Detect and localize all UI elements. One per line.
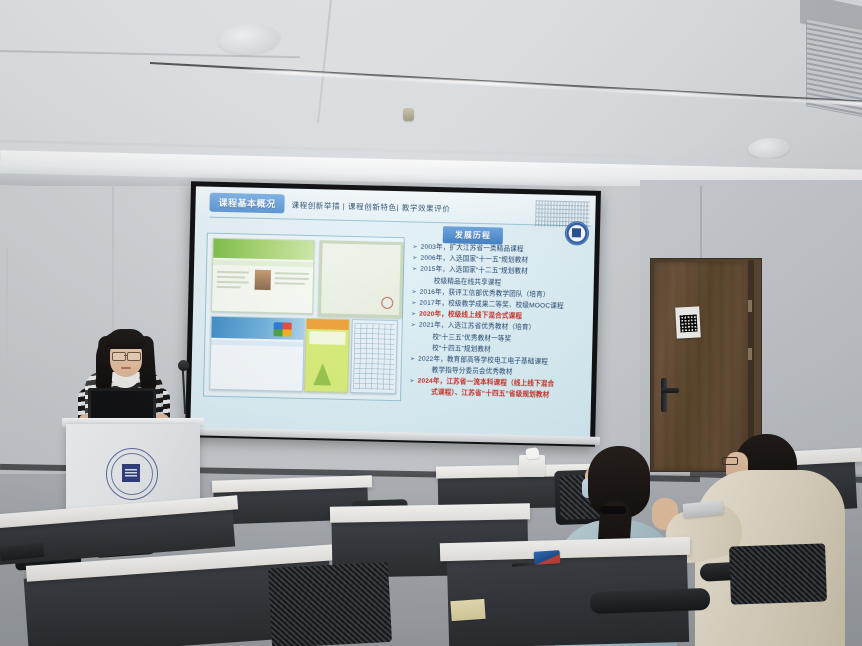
slide-bullet-item: ➢2024年，江苏省一流本科课程（线上线下混合 — [409, 378, 581, 390]
university-emblem-icon — [565, 221, 590, 246]
bullet-text: 2016年，获评工信部优秀教学团队（培育） — [420, 288, 550, 299]
bullet-text: 式课程）、江苏省“十四五”省级规划教材 — [431, 389, 549, 400]
sprinkler-icon — [403, 108, 414, 121]
paper-pad[interactable] — [450, 599, 485, 621]
bullet-arrow-icon: ➢ — [411, 311, 416, 319]
chair-mesh-back[interactable] — [729, 543, 827, 604]
bullet-arrow-icon: ➢ — [412, 266, 417, 274]
podium-seal-wave-mark — [125, 469, 137, 477]
slide-image-panel — [203, 233, 405, 402]
bullet-text: 2015年，入选国家“十二五”规划教材 — [420, 266, 528, 277]
slide-bullet-item: 教学指导分委员会优秀教材 — [410, 366, 582, 378]
bullet-arrow-icon: ➢ — [409, 378, 414, 386]
slide-badge: 发展历程 — [443, 226, 503, 244]
glasses-lens-right-icon — [127, 352, 141, 361]
door-handle-plate[interactable] — [661, 378, 667, 412]
bullet-text: 2021年，入选江苏省优秀教材（培育） — [419, 322, 536, 333]
door-wood-grain — [654, 262, 751, 470]
thumbnail-data-table — [350, 319, 398, 394]
slide-bullet-item: ➢2006年，入选国家“十一五”规划教材 — [412, 255, 584, 267]
classroom-photo: 课程基本概况 课程创新举措 | 课程创新特色| 教学效果评价 发展历程 — [0, 0, 862, 646]
slide-bullet-item: 校级精品在线共享课程 — [412, 277, 584, 289]
thumb-text-line — [217, 271, 249, 274]
slide-bullet-item: 式课程）、江苏省“十四五”省级规划教材 — [409, 389, 581, 401]
presenter-mouth — [121, 367, 131, 369]
glasses-lens-left-icon — [112, 352, 126, 361]
tissue-sheet — [525, 447, 539, 460]
door-lever-handle[interactable] — [661, 388, 679, 393]
slide-bullet-item: ➢2016年，获评工信部优秀教学团队（培育） — [411, 288, 583, 300]
thumb-text-line — [275, 277, 309, 280]
bullet-text: 2020年，校级线上线下混合式课程 — [419, 311, 522, 321]
thumbnail-award-certificate — [318, 240, 404, 318]
bullet-text: 教学指导分委员会优秀教材 — [432, 367, 513, 377]
thumb-portrait — [255, 270, 271, 290]
presenter-hair-top — [106, 329, 146, 349]
book-title-block — [309, 331, 345, 345]
bullet-text: 校级精品在线共享课程 — [434, 278, 502, 288]
qr-code-icon — [679, 315, 697, 333]
door-hinge-bottom — [748, 348, 752, 360]
thumb-text-line — [217, 286, 241, 289]
slide-bullet-item: ➢2020年，校级线上线下混合式课程 — [411, 311, 583, 323]
bullet-text: 校“十四五”规划教材 — [432, 345, 491, 354]
hair-tie-icon — [600, 506, 626, 514]
table-grid — [353, 323, 395, 390]
bullet-arrow-icon: ➢ — [411, 299, 416, 307]
book-leaf-graphic — [313, 363, 332, 385]
qr-caption — [677, 308, 697, 311]
smartphone[interactable] — [534, 550, 561, 565]
thumb-text-line — [275, 272, 309, 275]
thumb-text-line — [217, 276, 245, 279]
slide-bullet-item: ➢2021年，入选江苏省优秀教材（培育） — [411, 322, 583, 334]
windows-logo-icon — [273, 322, 291, 336]
certificate-seal-icon — [381, 297, 393, 309]
thumb-text-line — [217, 281, 249, 284]
bullet-arrow-icon: ➢ — [410, 355, 415, 363]
bullet-arrow-icon: ➢ — [411, 288, 416, 296]
door-hinge-top — [748, 300, 752, 312]
projection-screen: 课程基本概况 课程创新举措 | 课程创新特色| 教学效果评价 发展历程 — [185, 181, 601, 447]
thumbnail-green-course-website — [211, 238, 315, 314]
bullet-text: 2003年，扩大江苏省一类精品课程 — [421, 244, 524, 254]
bullet-arrow-icon: ➢ — [412, 255, 417, 263]
bullet-text: 2024年，江苏省一流本科课程（线上线下混合 — [418, 378, 555, 389]
emblem-core — [572, 228, 581, 237]
thumb-text-line — [275, 282, 305, 285]
slide-bullet-item: ➢2022年，教育部高等学校电工电子基础课程 — [410, 355, 582, 367]
thumb-navbar-blue — [211, 340, 303, 347]
thumbnail-blue-course-platform — [209, 316, 305, 392]
thumb-banner — [213, 239, 313, 260]
chair-mesh-back[interactable] — [268, 562, 392, 646]
bullet-text: 2017年，校级教学成果二等奖、校级MOOC课程 — [419, 300, 563, 311]
wall-seam-2 — [6, 248, 8, 428]
bullet-arrow-icon: ➢ — [411, 322, 416, 330]
thumbnail-textbook-cover — [304, 318, 350, 393]
bullet-arrow-icon: ➢ — [412, 243, 417, 251]
slide-bullet-item: ➢2015年，入选国家“十二五”规划教材 — [412, 266, 584, 278]
bullet-text: 2006年，入选国家“十一五”规划教材 — [420, 255, 528, 266]
bullet-text: 2022年，教育部高等学校电工电子基础课程 — [418, 355, 548, 366]
slide-bullet-list: ➢2003年，扩大江苏省一类精品课程➢2006年，入选国家“十一五”规划教材➢2… — [409, 243, 585, 404]
bullet-text: 校“十三五”优秀教材一等奖 — [432, 333, 511, 343]
slide-section-tab: 课程基本概况 — [209, 193, 284, 214]
microphone-icon — [178, 360, 189, 371]
presentation-slide: 课程基本概况 课程创新举措 | 课程创新特色| 教学效果评价 发展历程 — [190, 186, 596, 441]
slide-bullet-item: 校“十四五”规划教材 — [410, 344, 582, 356]
slide-bullet-item: 校“十三五”优秀教材一等奖 — [410, 333, 582, 345]
slide-bullet-item: ➢2017年，校级教学成果二等奖、校级MOOC课程 — [411, 299, 583, 311]
slide-bullet-item: ➢2003年，扩大江苏省一类精品课程 — [412, 243, 584, 255]
glasses-bridge — [124, 355, 127, 356]
attendee-glasses-icon — [722, 457, 738, 465]
chair-armrest — [590, 588, 711, 614]
thumb-navbar — [213, 260, 313, 267]
qr-code-notice — [675, 306, 701, 338]
